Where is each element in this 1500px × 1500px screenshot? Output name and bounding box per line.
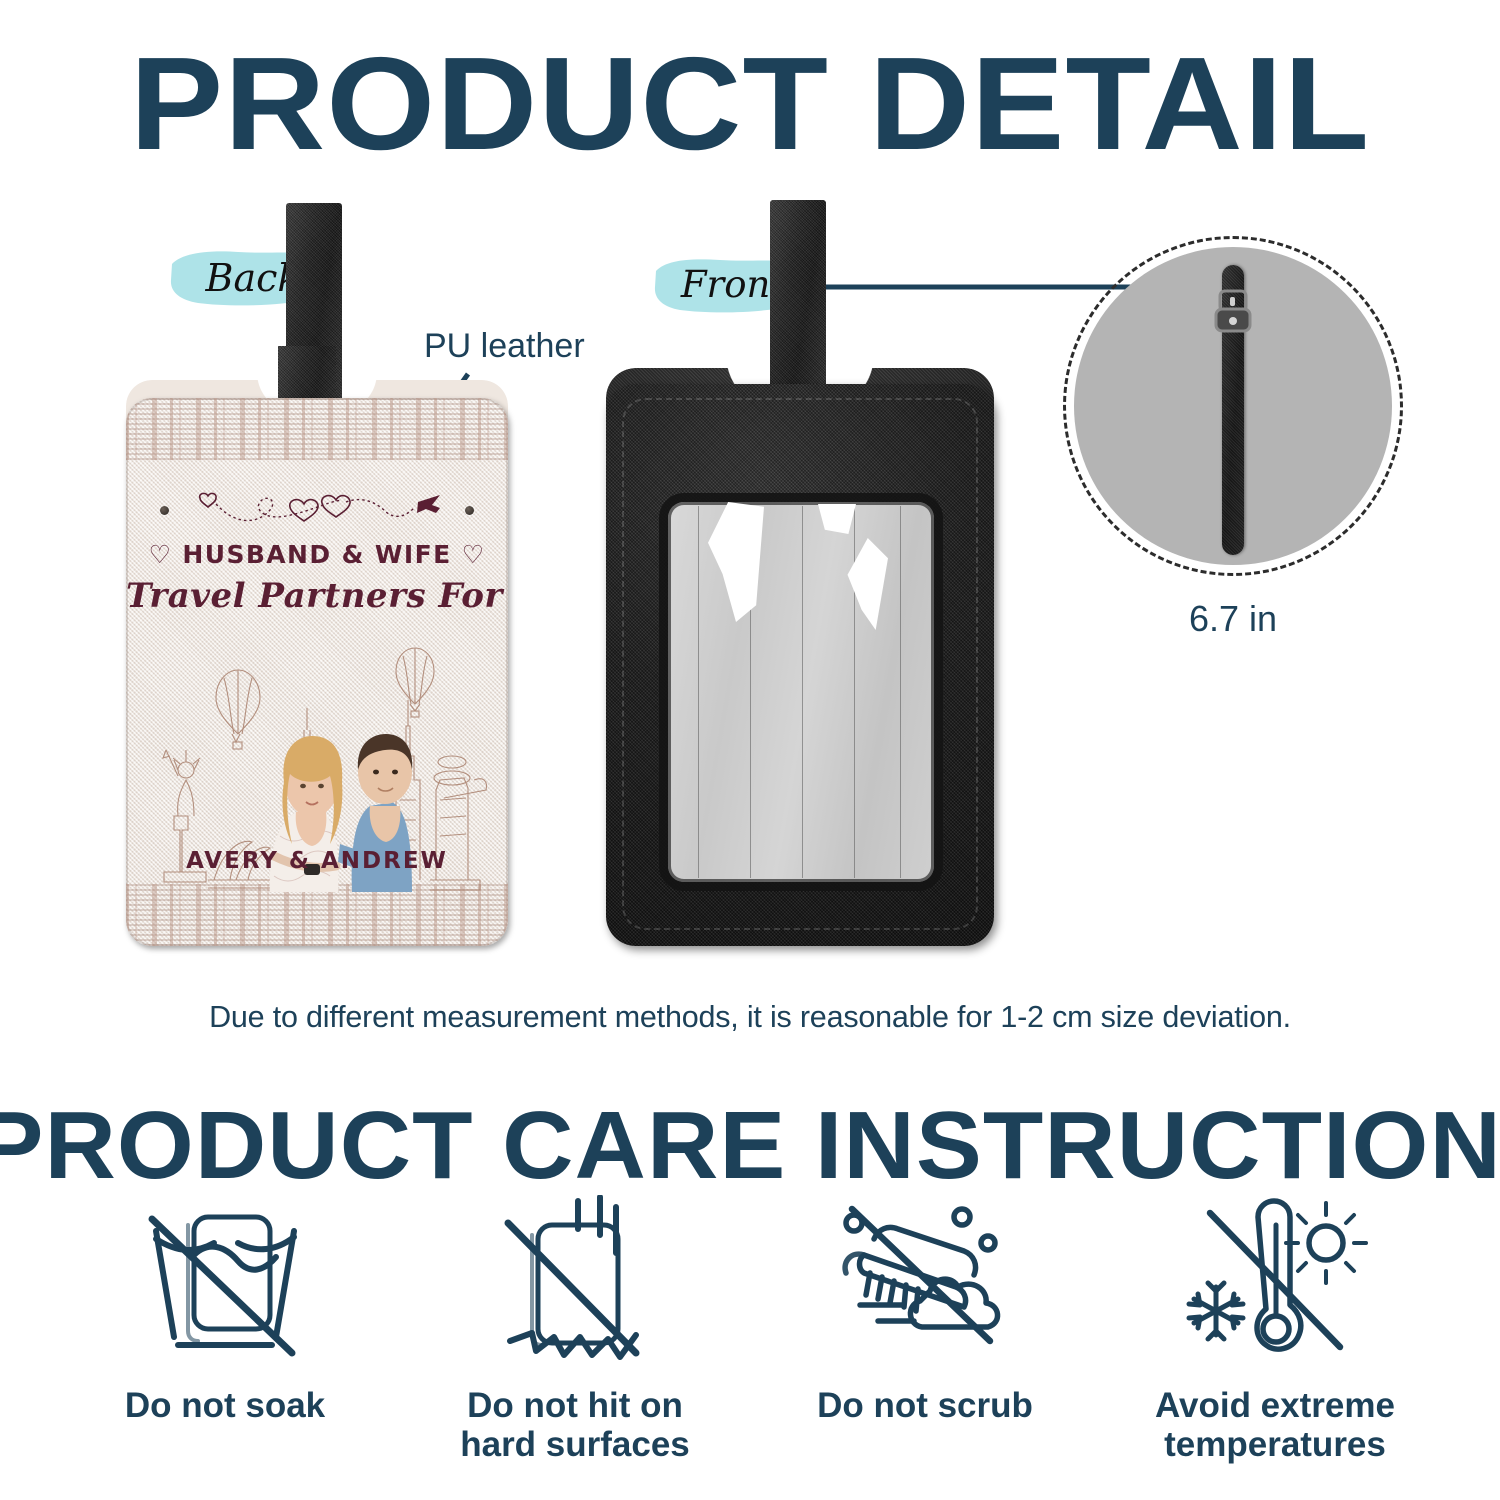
no-soak-icon (130, 1195, 320, 1380)
plane-hearts-flourish (186, 486, 448, 534)
stripe-band-bottom (126, 884, 508, 946)
no-scrub-icon (830, 1195, 1020, 1380)
tag-subhead: Travel Partners For Life (126, 576, 508, 616)
tag-personalized-names: AVERY & ANDREW (126, 848, 508, 874)
window-glare-1 (708, 502, 764, 622)
care-label-no-soak: Do not soak (125, 1386, 325, 1425)
luggage-tag-front (600, 350, 1000, 950)
care-item-no-impact: Do not hit on hard surfaces (410, 1195, 740, 1464)
care-item-no-extreme-temp: Avoid extreme temperatures (1110, 1195, 1440, 1464)
rivet-right (465, 506, 474, 515)
care-item-no-soak: Do not soak (60, 1195, 390, 1425)
window-glare-2 (818, 504, 856, 534)
window-glare-3 (844, 538, 888, 630)
luggage-tag-back: ♡ HUSBAND & WIFE ♡ Travel Partners For L… (118, 350, 518, 950)
size-label: 6.7 in (1063, 598, 1403, 640)
product-detail-page: PRODUCT DETAIL Back Front PU leather (0, 0, 1500, 1500)
care-label-no-extreme-temp: Avoid extreme temperatures (1155, 1386, 1395, 1464)
strap-detail-circle (1063, 236, 1403, 576)
tag-back-face: ♡ HUSBAND & WIFE ♡ Travel Partners For L… (126, 398, 508, 946)
page-title: PRODUCT DETAIL (0, 38, 1500, 170)
care-instructions-row: Do not soak Do not hit on hard surfaces (60, 1195, 1440, 1495)
id-window (668, 502, 934, 882)
tag-headline: ♡ HUSBAND & WIFE ♡ (126, 540, 508, 569)
tag-front-face (606, 384, 994, 946)
care-item-no-scrub: Do not scrub (760, 1195, 1090, 1425)
care-instructions-title: PRODUCT CARE INSTRUCTIONS (0, 1098, 1500, 1194)
no-impact-icon (480, 1195, 670, 1380)
stripe-band-top (126, 398, 508, 460)
no-extreme-temp-icon (1180, 1195, 1370, 1380)
buckle-icon (1201, 283, 1265, 363)
rivet-left (160, 506, 169, 515)
care-label-no-impact: Do not hit on hard surfaces (460, 1386, 690, 1464)
care-label-no-scrub: Do not scrub (817, 1386, 1033, 1425)
measurement-note: Due to different measurement methods, it… (0, 1000, 1500, 1035)
